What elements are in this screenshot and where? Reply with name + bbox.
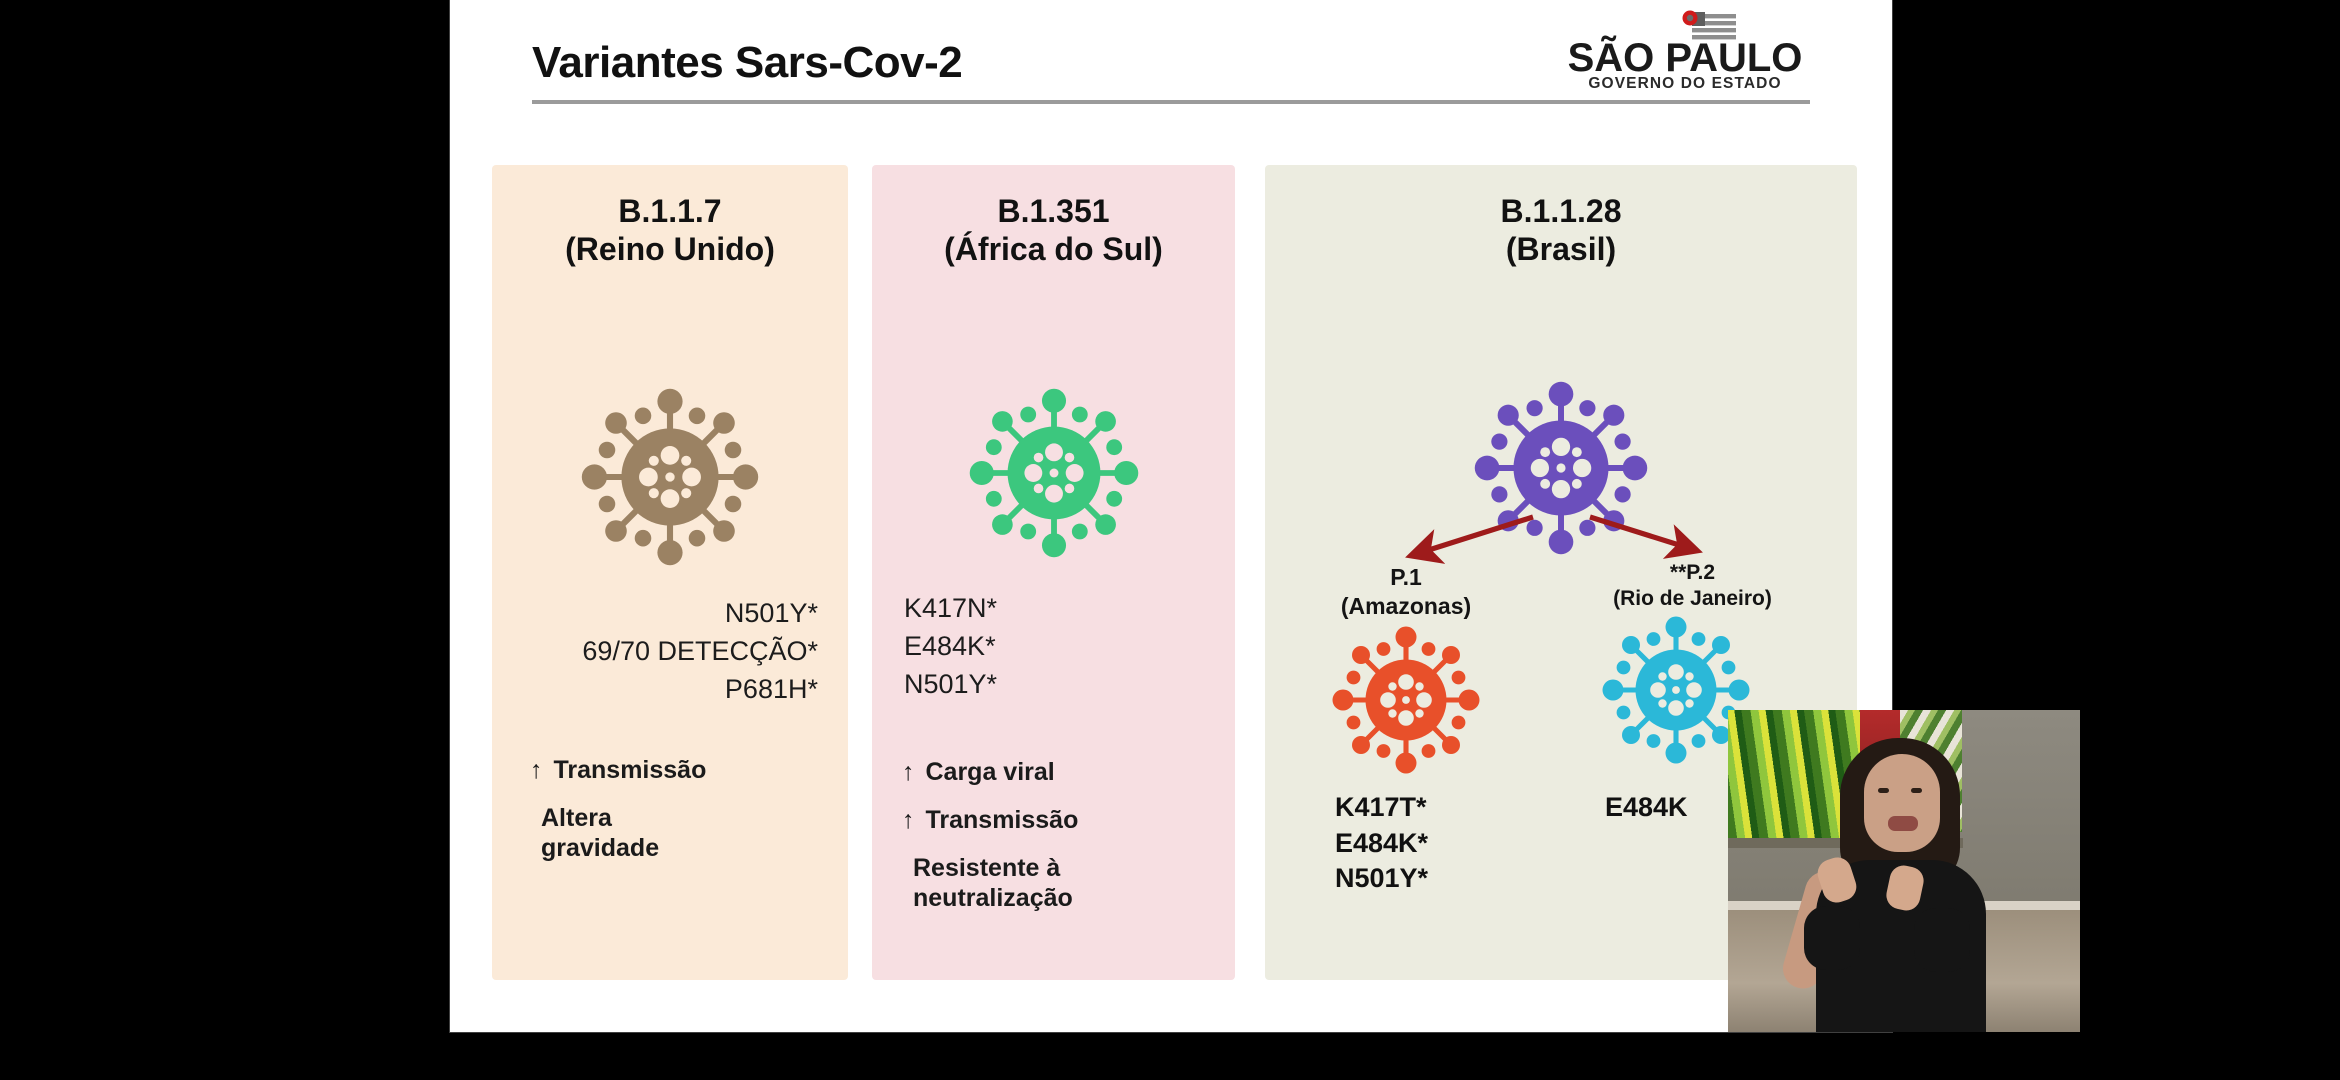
interpreter-sleeve-left (1804, 906, 1860, 970)
interpreter-sleeve-right (1914, 908, 1970, 972)
virus-icon (1473, 380, 1649, 556)
mutation-list-b1351: K417N* E484K* N501Y* (904, 590, 997, 703)
arrow-up-icon: ↑ (530, 755, 543, 785)
effect-item: Altera gravidade (530, 803, 706, 863)
screen: Variantes Sars-Cov-2 SÃO PAULO GOVERNO (0, 0, 2340, 1080)
mutation-list-p2: E484K (1605, 790, 1688, 826)
variant-title-b1128: B.1.1.28 (Brasil) (1265, 193, 1857, 269)
presentation-slide: Variantes Sars-Cov-2 SÃO PAULO GOVERNO (450, 0, 1892, 1032)
effect-label: Altera gravidade (541, 803, 659, 863)
virus-icon (968, 387, 1140, 559)
effect-label: Transmissão (926, 805, 1079, 835)
effect-label: Resistente à neutralização (913, 853, 1073, 913)
arrow-up-icon: ↑ (902, 805, 915, 835)
variant-panel-b117: B.1.1.7 (Reino Unido) (492, 165, 848, 980)
variant-panel-b1351: B.1.351 (África do Sul) (872, 165, 1235, 980)
effect-item: ↑ Transmissão (902, 805, 1078, 835)
mutation-list-p1: K417T* E484K* N501Y* (1335, 790, 1428, 897)
variant-title-b1351: B.1.351 (África do Sul) (872, 193, 1235, 269)
branch-label-p1: P.1 (Amazonas) (1291, 563, 1521, 621)
effect-list-b1351: ↑ Carga viral ↑ Transmissão Resistente à… (902, 757, 1078, 931)
interpreter-face (1864, 754, 1940, 852)
effect-list-b117: ↑ Transmissão Altera gravidade (530, 755, 706, 881)
interpreter-mouth (1888, 816, 1918, 831)
sign-language-interpreter-video[interactable] (1728, 710, 2080, 1032)
branch-label-p2: **P.2 (Rio de Janeiro) (1565, 560, 1820, 613)
variant-panels: B.1.1.7 (Reino Unido) (450, 0, 1892, 1032)
variant-title-b117: B.1.1.7 (Reino Unido) (492, 193, 848, 269)
interpreter-eye-right (1911, 788, 1922, 793)
interpreter-eye-left (1878, 788, 1889, 793)
virus-icon (1331, 625, 1481, 775)
effect-item: Resistente à neutralização (902, 853, 1078, 913)
mutation-list-b117: N501Y* 69/70 DETECÇÃO* P681H* (582, 595, 818, 708)
effect-item: ↑ Transmissão (530, 755, 706, 785)
effect-item: ↑ Carga viral (902, 757, 1078, 787)
effect-label: Transmissão (554, 755, 707, 785)
effect-label: Carga viral (926, 757, 1055, 787)
arrow-up-icon: ↑ (902, 757, 915, 787)
virus-icon (580, 387, 760, 567)
